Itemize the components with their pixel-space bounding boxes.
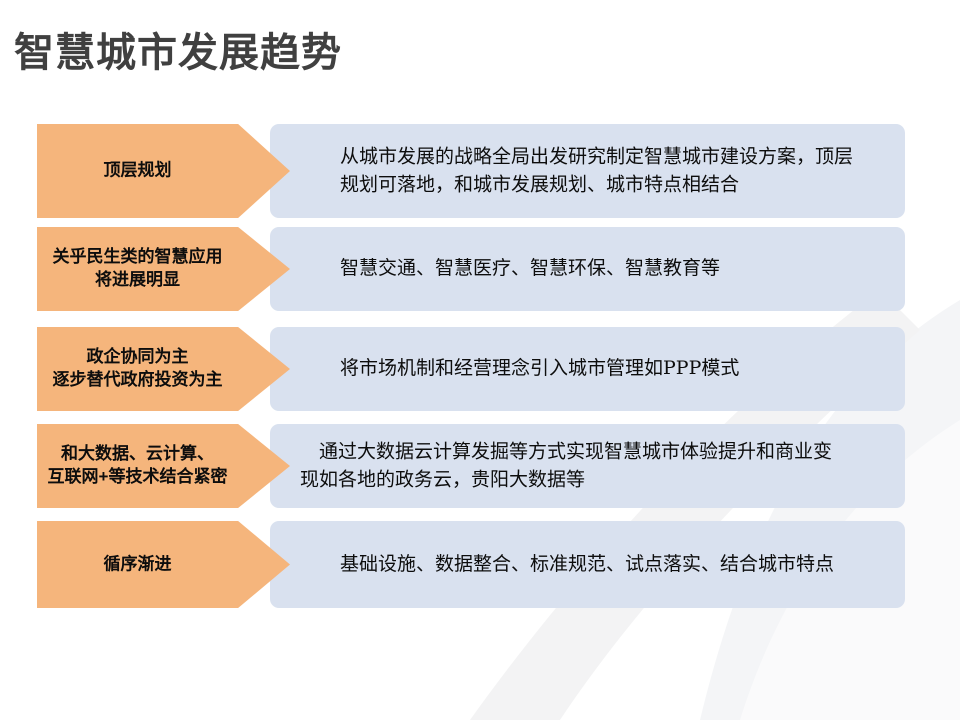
row-description-panel: 从城市发展的战略全局出发研究制定智慧城市建设方案，顶层 规划可落地，和城市发展规…: [270, 124, 905, 218]
row-description-panel: 将市场机制和经营理念引入城市管理如PPP模式: [270, 327, 905, 411]
row-arrow-shape: 关乎民生类的智慧应用 将进展明显: [37, 227, 290, 311]
row-arrow-shape: 和大数据、云计算、 互联网+等技术结合紧密: [37, 424, 290, 508]
row-description-text: 将市场机制和经营理念引入城市管理如PPP模式: [340, 355, 887, 383]
row-arrow-shape: 循序渐进: [37, 521, 290, 608]
process-row: 将市场机制和经营理念引入城市管理如PPP模式 政企协同为主 逐步替代政府投资为主: [37, 327, 905, 411]
row-arrow-shape: 顶层规划: [37, 124, 290, 218]
row-description-text: 基础设施、数据整合、标准规范、试点落实、结合城市特点: [340, 551, 887, 579]
process-row: 从城市发展的战略全局出发研究制定智慧城市建设方案，顶层 规划可落地，和城市发展规…: [37, 124, 905, 218]
row-description-text: 通过大数据云计算发掘等方式实现智慧城市体验提升和商业变 现如各地的政务云，贵阳大…: [300, 438, 887, 493]
page-title: 智慧城市发展趋势: [14, 30, 342, 76]
row-label-text: 顶层规划: [37, 160, 238, 183]
row-description-text: 从城市发展的战略全局出发研究制定智慧城市建设方案，顶层 规划可落地，和城市发展规…: [340, 143, 887, 198]
process-row: 智慧交通、智慧医疗、智慧环保、智慧教育等 关乎民生类的智慧应用 将进展明显: [37, 227, 905, 311]
row-label-text: 循序渐进: [37, 553, 238, 576]
row-label-text: 和大数据、云计算、 互联网+等技术结合紧密: [37, 443, 238, 489]
row-description-panel: 基础设施、数据整合、标准规范、试点落实、结合城市特点: [270, 521, 905, 608]
row-label-text: 政企协同为主 逐步替代政府投资为主: [37, 346, 238, 392]
row-arrow-shape: 政企协同为主 逐步替代政府投资为主: [37, 327, 290, 411]
row-description-panel: 智慧交通、智慧医疗、智慧环保、智慧教育等: [270, 227, 905, 311]
process-row: 和大数据、云计算、 互联网+等技术结合紧密 通过大数据云计算发掘等方式实现智慧城…: [37, 424, 905, 508]
row-label-text: 关乎民生类的智慧应用 将进展明显: [37, 246, 238, 292]
process-row: 基础设施、数据整合、标准规范、试点落实、结合城市特点 循序渐进: [37, 521, 905, 608]
slide-canvas: 智慧城市发展趋势 从城市发展的战略全局出发研究制定智慧城市建设方案，顶层 规划可…: [0, 0, 960, 720]
row-description-text: 智慧交通、智慧医疗、智慧环保、智慧教育等: [340, 255, 887, 283]
